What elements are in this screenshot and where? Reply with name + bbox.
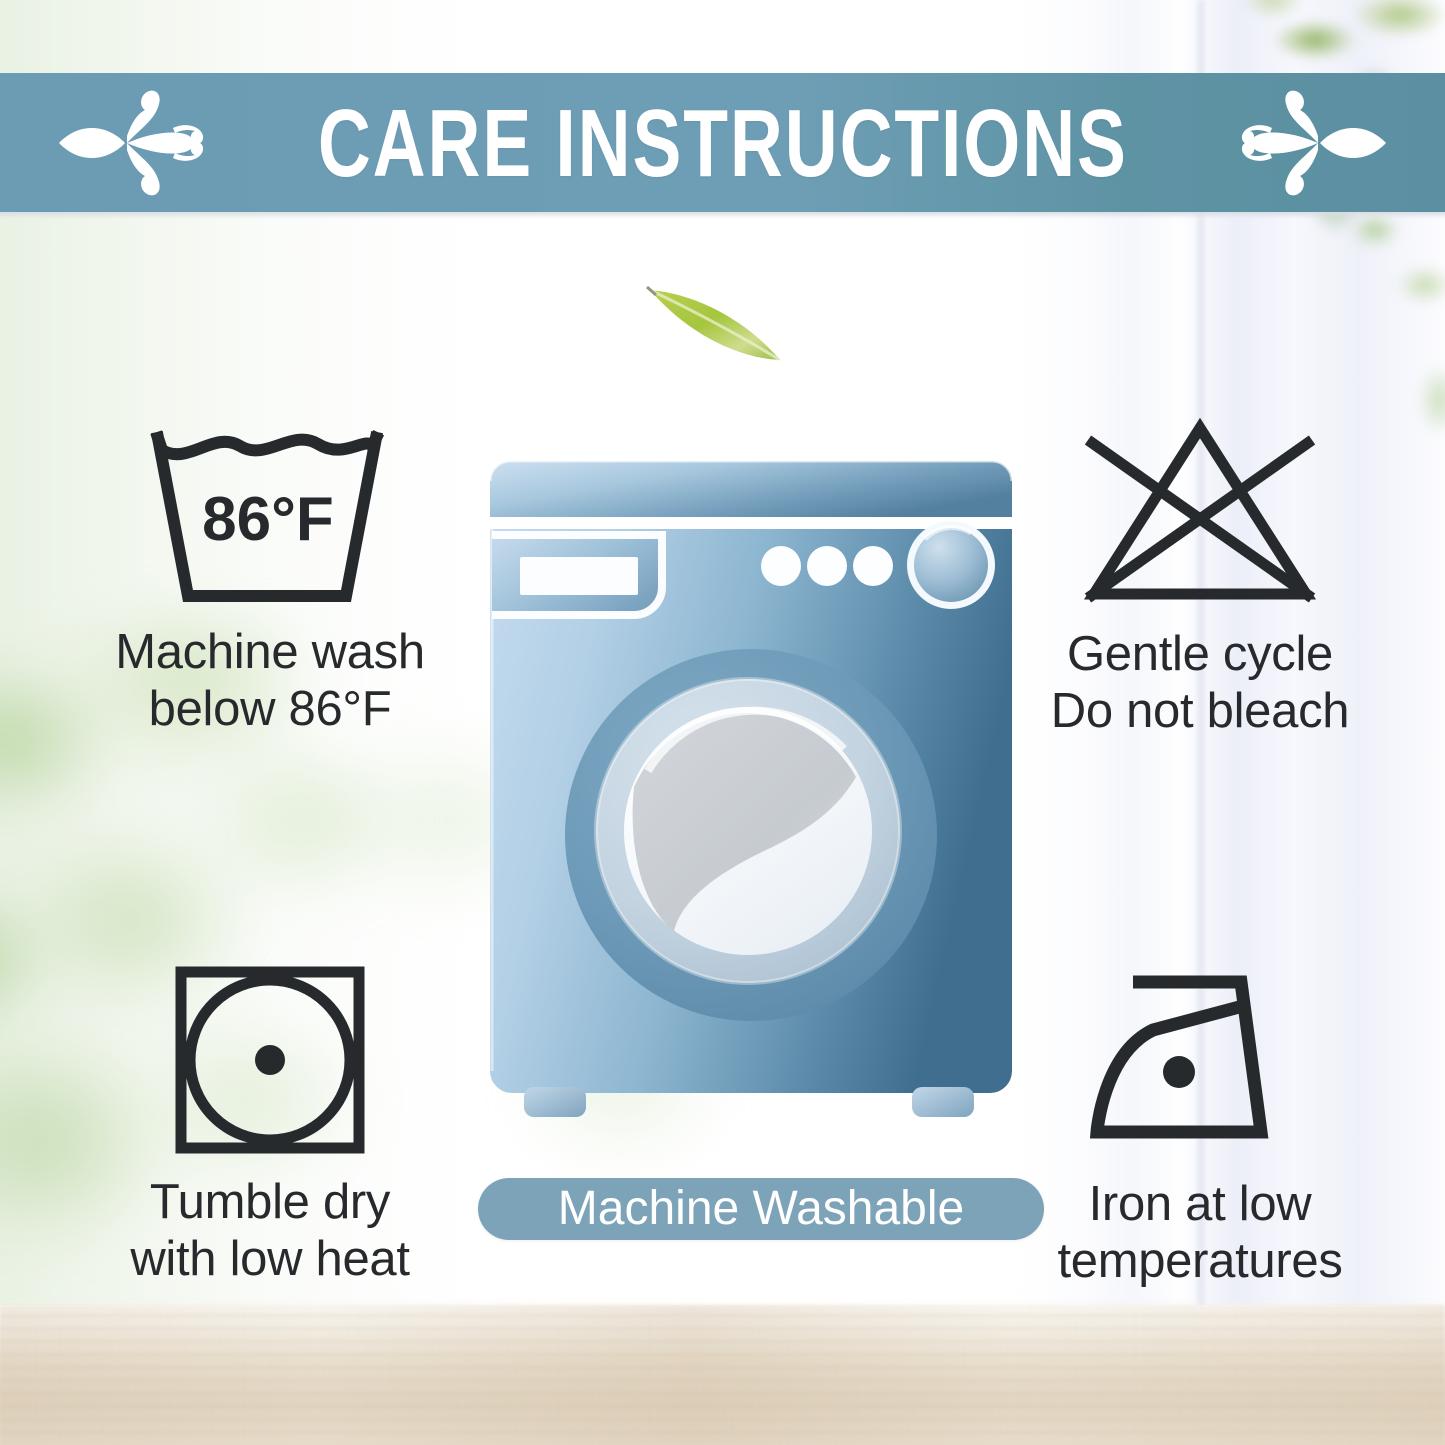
tumble-dry-low-icon — [165, 960, 375, 1160]
wood-grain-texture — [0, 1305, 1445, 1445]
washer-foot-left — [524, 1087, 586, 1117]
infographic-canvas: CARE INSTRUCTIONS — [0, 0, 1445, 1445]
care-label-tumble-dry: Tumble dry with low heat — [30, 1174, 510, 1288]
wash-tub-icon: 86°F — [140, 420, 400, 610]
wash-temperature-value: 86°F — [202, 485, 334, 554]
care-item-machine-wash: 86°F Machine wash below 86°F — [30, 420, 510, 738]
page-title: CARE INSTRUCTIONS — [318, 95, 1128, 190]
fleur-de-lis-icon-left — [55, 88, 205, 198]
banner-shadow — [0, 212, 1445, 219]
indicator-light-2 — [807, 546, 847, 586]
care-item-do-not-bleach: Gentle cycle Do not bleach — [960, 412, 1440, 740]
indicator-lights — [761, 546, 893, 586]
care-item-iron: Iron at low temperatures — [960, 962, 1440, 1290]
machine-washable-badge: Machine Washable — [478, 1178, 1044, 1240]
floating-leaf-icon — [640, 272, 800, 372]
drawer-slot — [520, 557, 638, 595]
fleur-de-lis-icon-right — [1240, 88, 1390, 198]
care-item-tumble-dry: Tumble dry with low heat — [30, 960, 510, 1288]
do-not-bleach-triangle-icon — [1070, 412, 1330, 612]
washer-foot-right — [912, 1087, 974, 1117]
header-banner: CARE INSTRUCTIONS — [0, 73, 1445, 212]
indicator-light-1 — [761, 546, 801, 586]
iron-low-heat-icon — [1075, 962, 1325, 1162]
care-label-do-not-bleach: Gentle cycle Do not bleach — [960, 626, 1440, 740]
detergent-drawer — [492, 535, 662, 615]
control-knob — [907, 521, 995, 609]
washer-top-lid — [490, 461, 1012, 517]
washing-machine-illustration — [482, 455, 1020, 1120]
washer-door — [565, 649, 937, 1021]
machine-washable-label: Machine Washable — [558, 1185, 964, 1233]
care-label-machine-wash: Machine wash below 86°F — [30, 624, 510, 738]
indicator-light-3 — [853, 546, 893, 586]
